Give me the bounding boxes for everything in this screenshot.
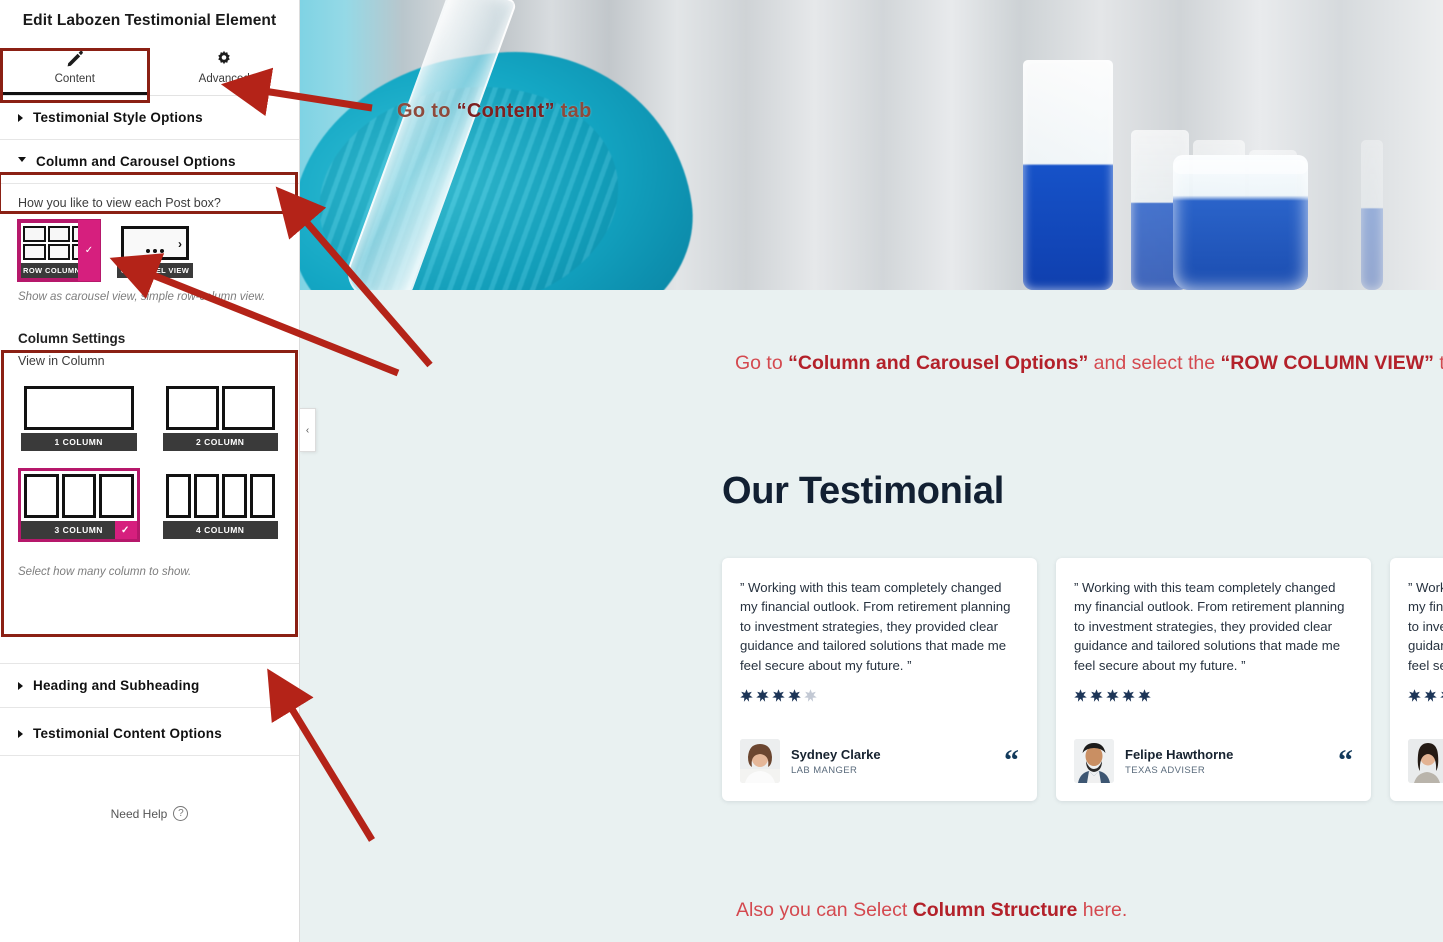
rating-stars (1408, 689, 1443, 702)
author-info: Sydney Clarke LAB MANGER (791, 747, 881, 776)
view-option-carousel[interactable]: › CAROUSEL VIEW (114, 220, 196, 281)
tab-content-label: Content (55, 73, 95, 85)
anno-text-bold: Column Structure (913, 899, 1078, 921)
author-name: Felipe Hawthorne (1125, 747, 1233, 762)
column-option-2[interactable]: 2 COLUMN (160, 380, 282, 454)
anno-text-bold: “Content” (457, 100, 555, 122)
star-icon-filled (1074, 689, 1087, 702)
page-preview: Go to “Content” tab Go to “Column and Ca… (300, 0, 1443, 942)
star-icon-filled (788, 689, 801, 702)
editor-panel: Edit Labozen Testimonial Element Content (0, 0, 300, 942)
testimonial-author: Felipe Hawthorne TEXAS ADVISER “ (1074, 739, 1353, 783)
view-option-row-column[interactable]: ROW COLUMN VIEW ✓ (18, 220, 100, 281)
post-box-view-field: How you like to view each Post box? ROW … (0, 184, 299, 315)
annotation-column-carousel: Go to “Column and Carousel Options” and … (735, 352, 1443, 375)
star-icon-filled (1106, 689, 1119, 702)
accordion-testimonial-style-options[interactable]: Testimonial Style Options (0, 96, 299, 140)
anno-text: tab (555, 100, 592, 122)
page-title: Our Testimonial (722, 470, 1004, 513)
column-settings-help: Select how many column to show. (0, 552, 299, 584)
test-tube-rack (1013, 0, 1443, 290)
check-icon: ✓ (78, 220, 100, 281)
star-icon-empty (804, 689, 817, 702)
anno-text: and select the (1088, 352, 1220, 374)
gear-icon (215, 50, 233, 68)
view-option-label: CAROUSEL VIEW (117, 263, 193, 278)
hero-image: Go to “Content” tab (300, 0, 1443, 290)
editor-tabs: Content Advanced (0, 40, 299, 96)
carousel-icon: › (117, 223, 193, 263)
field-help-text: Show as carousel view, simple row-column… (18, 291, 281, 309)
annotation-content-tab: Go to “Content” tab (397, 100, 592, 123)
star-icon-filled (772, 689, 785, 702)
chevron-right-icon (18, 114, 23, 122)
accordion-label: Heading and Subheading (33, 678, 199, 693)
star-icon-filled (1138, 689, 1151, 702)
avatar (1408, 739, 1443, 783)
anno-text: Also you can Select (736, 899, 913, 921)
app-screenshot: Go to “Content” tab Go to “Column and Ca… (0, 0, 1443, 942)
anno-text-bold: “Column and Carousel Options” (788, 352, 1088, 374)
author-info: Felipe Hawthorne TEXAS ADVISER (1125, 747, 1233, 776)
testimonial-card: ” Working with this team completely chan… (1390, 558, 1443, 801)
quote-icon: “ (1004, 752, 1019, 770)
accordion-label: Testimonial Style Options (33, 110, 203, 125)
column-option-label: 3 COLUMN✓ (21, 521, 137, 539)
question-mark-icon: ? (173, 806, 188, 821)
one-column-icon (21, 383, 137, 433)
need-help-link[interactable]: Need Help ? (0, 806, 299, 821)
four-column-icon (163, 471, 279, 521)
column-option-list: 1 COLUMN 2 COLUMN 3 COLUMN✓ 4 COLUMN (0, 380, 299, 542)
chevron-right-icon (18, 682, 23, 690)
accordion-heading-and-subheading[interactable]: Heading and Subheading (0, 664, 299, 708)
testimonial-quote: ” Working with this team completely chan… (1074, 578, 1353, 675)
testimonial-author: Sydney Clarke LAB MANGER “ (740, 739, 1019, 783)
avatar (740, 739, 780, 783)
column-settings-heading: Column Settings (0, 315, 299, 350)
pencil-icon (66, 50, 84, 68)
tab-advanced-label: Advanced (199, 73, 250, 85)
accordion-label: Column and Carousel Options (36, 154, 236, 169)
anno-text: Go to (397, 100, 457, 122)
panel-collapse-handle[interactable]: ‹ (300, 408, 316, 452)
column-option-label: 4 COLUMN (163, 521, 279, 539)
rating-stars (1074, 689, 1353, 702)
column-option-1[interactable]: 1 COLUMN (18, 380, 140, 454)
testimonial-card: ” Working with this team completely chan… (722, 558, 1037, 801)
author-role: LAB MANGER (791, 765, 881, 776)
anno-text: thumbnail. (1434, 352, 1443, 374)
star-icon-filled (1424, 689, 1437, 702)
chevron-down-icon (18, 157, 26, 166)
anno-text: Go to (735, 352, 788, 374)
column-option-label: 1 COLUMN (21, 433, 137, 451)
column-option-4[interactable]: 4 COLUMN (160, 468, 282, 542)
accordion-label: Testimonial Content Options (33, 726, 222, 741)
annotation-column-structure: Also you can Select Column Structure her… (736, 899, 1127, 922)
two-column-icon (163, 383, 279, 433)
rating-stars (740, 689, 1019, 702)
chevron-right-icon (18, 730, 23, 738)
star-icon-filled (1090, 689, 1103, 702)
star-icon-filled (756, 689, 769, 702)
testimonial-quote: ” Working with this team completely chan… (1408, 578, 1443, 675)
column-option-label: 2 COLUMN (163, 433, 279, 451)
star-icon-filled (1408, 689, 1421, 702)
accordion-column-and-carousel-options[interactable]: Column and Carousel Options (0, 140, 299, 184)
author-role: TEXAS ADVISER (1125, 765, 1233, 776)
column-settings-subheading: View in Column (0, 350, 299, 380)
quote-icon: “ (1338, 752, 1353, 770)
column-option-3[interactable]: 3 COLUMN✓ (18, 468, 140, 542)
accordion-testimonial-content-options[interactable]: Testimonial Content Options (0, 712, 299, 756)
view-option-list: ROW COLUMN VIEW ✓ › CAROUSEL VIEW (18, 220, 281, 281)
star-icon-filled (1122, 689, 1135, 702)
tab-content[interactable]: Content (0, 40, 150, 95)
panel-title: Edit Labozen Testimonial Element (0, 0, 299, 40)
testimonial-quote: ” Working with this team completely chan… (740, 578, 1019, 675)
testimonial-author: Adele Laurie ASSISTANT MANAGER “ (1408, 739, 1443, 783)
need-help-label: Need Help (111, 807, 168, 821)
check-icon: ✓ (115, 521, 137, 539)
anno-text: here. (1077, 899, 1127, 921)
field-question: How you like to view each Post box? (18, 196, 281, 210)
author-name: Sydney Clarke (791, 747, 881, 762)
testimonial-card-list: ” Working with this team completely chan… (722, 558, 1443, 801)
tab-advanced[interactable]: Advanced (150, 40, 300, 95)
avatar (1074, 739, 1114, 783)
testimonial-card: ” Working with this team completely chan… (1056, 558, 1371, 801)
three-column-icon (21, 471, 137, 521)
anno-text-bold: “ROW COLUMN VIEW” (1221, 352, 1434, 374)
star-icon-filled (740, 689, 753, 702)
